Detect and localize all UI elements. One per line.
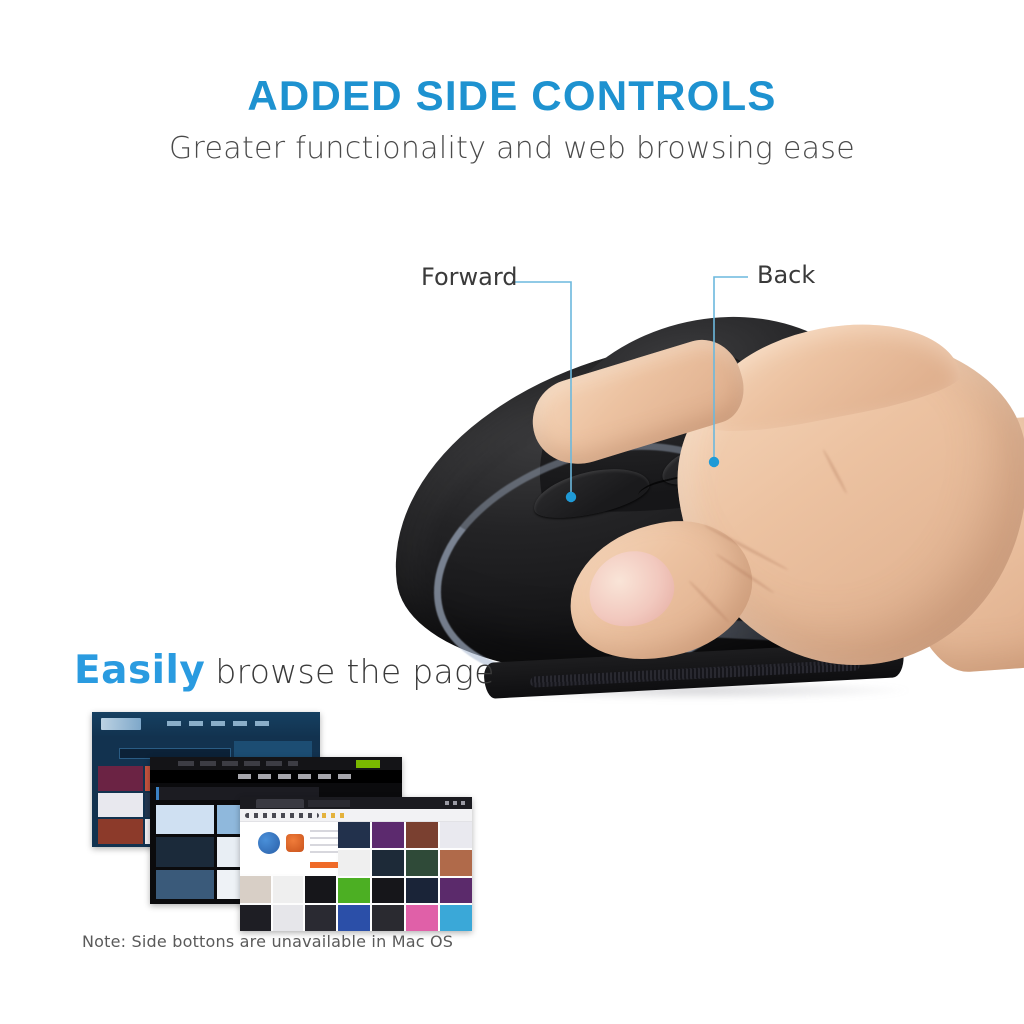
page-title: ADDED SIDE CONTROLS	[0, 72, 1024, 120]
thumbnail-tile[interactable]	[273, 905, 304, 932]
toolbar-icons[interactable]	[245, 813, 319, 818]
thumbnail-tile[interactable]	[372, 905, 404, 931]
thumbnail-tile[interactable]	[406, 905, 438, 931]
site-nav[interactable]	[167, 721, 277, 726]
thumbnail-tile[interactable]	[98, 766, 143, 791]
thumbnail-tile[interactable]	[98, 819, 143, 844]
page-subtitle: Greater functionality and web browsing e…	[0, 131, 1024, 166]
thumbnail-tile[interactable]	[406, 850, 438, 876]
thumbnail-tile[interactable]	[273, 876, 304, 903]
page-sidebar	[240, 822, 336, 874]
thumbnail-tile[interactable]	[440, 822, 472, 848]
thumbnail-grid-secondary	[240, 876, 336, 931]
site-logo-secondary-icon	[286, 834, 304, 852]
thumbnail-tile[interactable]	[440, 850, 472, 876]
promo-heading: Easilybrowse the page	[74, 648, 495, 693]
thumbnail-tile[interactable]	[156, 870, 214, 899]
thumbnail-tile[interactable]	[305, 876, 336, 903]
thumbnail-tile[interactable]	[440, 878, 472, 904]
thumbnail-tile[interactable]	[98, 793, 143, 818]
browser-tab[interactable]	[308, 800, 350, 807]
promo-emphasis: Easily	[74, 648, 205, 693]
thumbnail-tile[interactable]	[240, 876, 271, 903]
callout-label-back: Back	[757, 261, 815, 289]
site-logo	[101, 718, 141, 730]
window-controls[interactable]	[445, 801, 467, 805]
callout-label-forward: Forward	[421, 263, 518, 291]
thumbnail-grid	[338, 822, 472, 931]
site-logo-icon	[258, 832, 280, 854]
thumbnail-tile[interactable]	[338, 850, 370, 876]
thumbnail-tile[interactable]	[338, 822, 370, 848]
thumbnail-tile[interactable]	[338, 905, 370, 931]
thumbnail-tile[interactable]	[338, 878, 370, 904]
product-marketing-image: ADDED SIDE CONTROLS Greater functionalit…	[0, 0, 1024, 1024]
thumbnail-tile[interactable]	[372, 850, 404, 876]
thumbnail-tile[interactable]	[406, 822, 438, 848]
browser-window-stack	[92, 712, 472, 912]
thumbnail-tile[interactable]	[156, 837, 214, 866]
thumbnail-tile[interactable]	[305, 905, 336, 932]
thumbnail-tile[interactable]	[440, 905, 472, 931]
browser-tabs[interactable]	[178, 761, 298, 766]
accent-button[interactable]	[356, 760, 380, 768]
thumbnail-tile[interactable]	[372, 878, 404, 904]
toolbar-color-icons[interactable]	[322, 813, 348, 818]
thumbnail-tile[interactable]	[406, 878, 438, 904]
site-menu-items[interactable]	[238, 774, 358, 779]
browser-window-front[interactable]	[240, 797, 472, 931]
page-body	[240, 822, 472, 931]
footnote-note: Note: Side bottons are unavailable in Ma…	[82, 932, 453, 951]
promo-rest: browse the page	[215, 652, 494, 691]
thumbnail-tile[interactable]	[240, 905, 271, 932]
browser-tab-active[interactable]	[256, 799, 304, 808]
thumbnail-tile[interactable]	[156, 805, 214, 834]
thumbnail-tile[interactable]	[372, 822, 404, 848]
